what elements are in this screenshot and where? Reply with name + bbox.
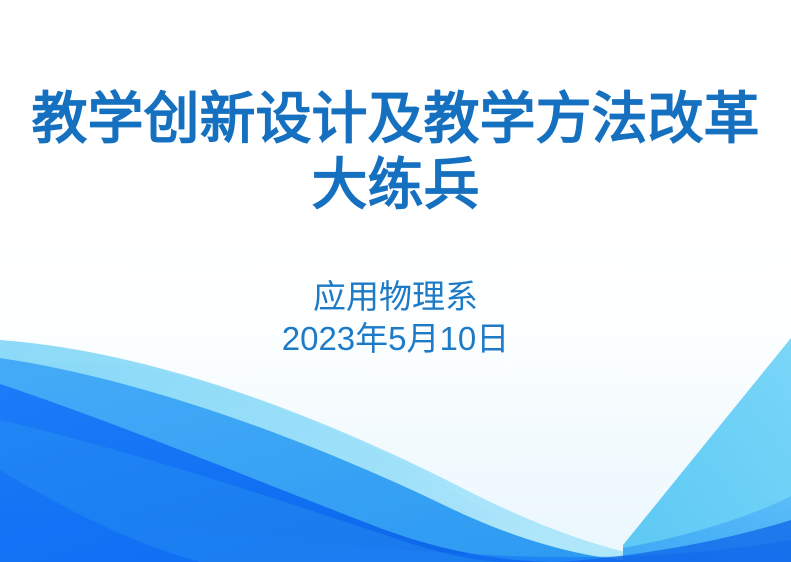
title-line-2: 大练兵 [0,152,791,218]
subtitle-department: 应用物理系 [0,276,791,318]
slide-content: 教学创新设计及教学方法改革 大练兵 应用物理系 2023年5月10日 [0,0,791,562]
title-line-1: 教学创新设计及教学方法改革 [0,86,791,152]
slide-title: 教学创新设计及教学方法改革 大练兵 [0,86,791,218]
slide-subtitle: 应用物理系 2023年5月10日 [0,276,791,360]
presentation-slide: 教学创新设计及教学方法改革 大练兵 应用物理系 2023年5月10日 [0,0,791,562]
subtitle-date: 2023年5月10日 [0,318,791,360]
